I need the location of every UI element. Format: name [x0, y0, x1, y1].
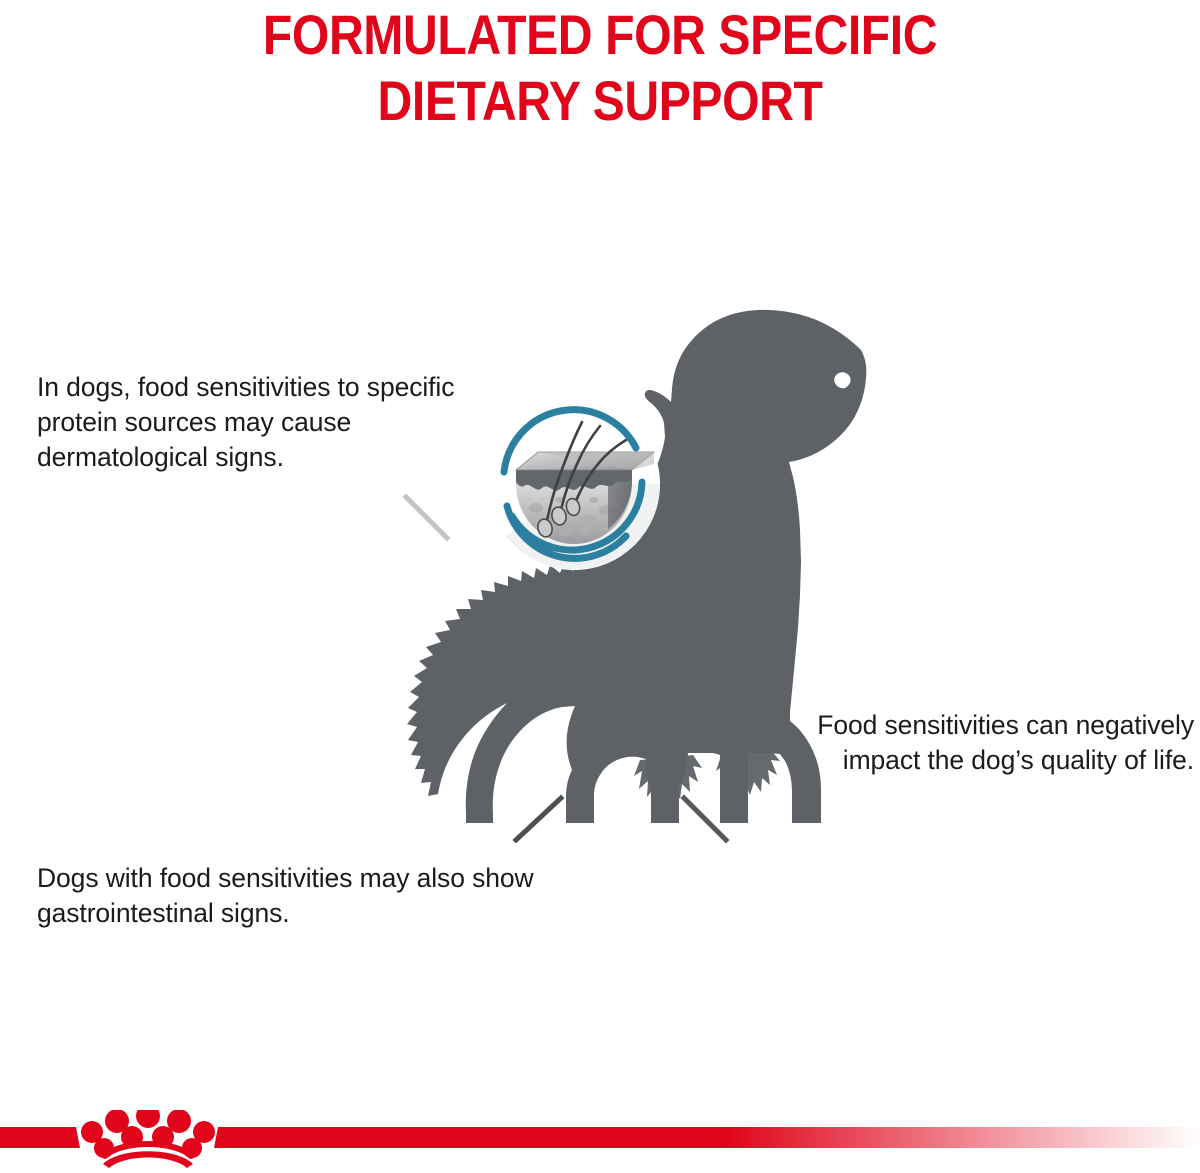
- page-title-line-1: FORMULATED FOR SPECIFIC: [84, 2, 1116, 68]
- page-title-line-2: DIETARY SUPPORT: [84, 68, 1116, 134]
- skin-cross-section-icon: [476, 386, 672, 582]
- page-title: FORMULATED FOR SPECIFIC DIETARY SUPPORT: [84, 2, 1116, 134]
- royal-canin-crown-logo: [81, 1110, 215, 1168]
- callout-quality-of-life-text: Food sensitivities can negatively impact…: [764, 708, 1194, 778]
- footer-brand-band: [0, 1110, 1200, 1168]
- callout-gastrointestinal-text: Dogs with food sensitivities may also sh…: [37, 861, 637, 931]
- callout-skin-text: In dogs, food sensitivities to specific …: [37, 370, 477, 475]
